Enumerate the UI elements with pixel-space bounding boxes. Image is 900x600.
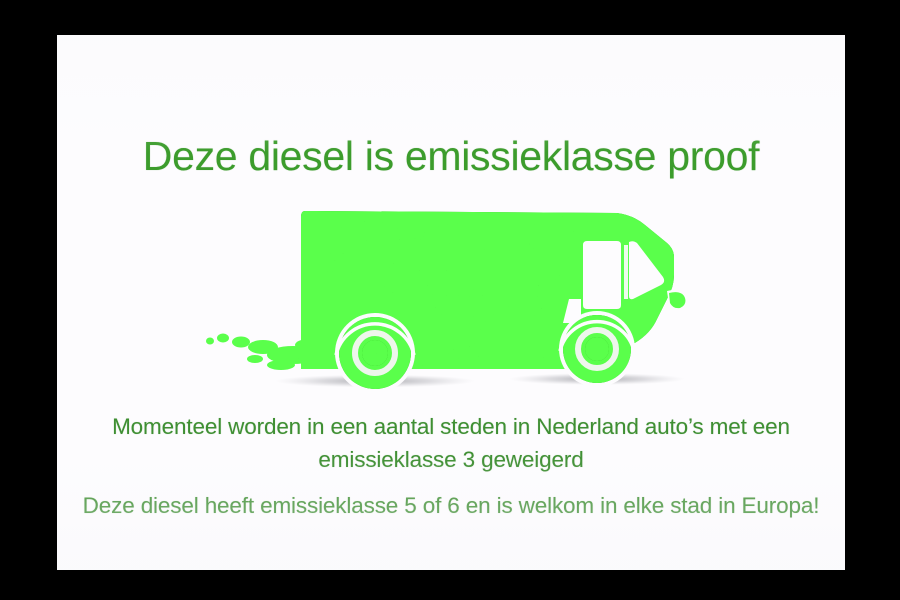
page-title: Deze diesel is emissieklasse proof: [57, 133, 845, 180]
side-mirror: [667, 290, 688, 312]
windscreen-pillar-gap: [624, 245, 628, 299]
content-panel: Deze diesel is emissieklasse proof: [57, 35, 845, 570]
screenshot-stage: Deze diesel is emissieklasse proof: [0, 0, 900, 600]
van-illustration: [197, 195, 757, 430]
caption-paragraph: Momenteel worden in een aantal steden in…: [57, 410, 845, 476]
caption-paragraph: Deze diesel heeft emissieklasse 5 of 6 e…: [57, 489, 845, 522]
van-graphic: [197, 195, 757, 430]
caption-block: Momenteel worden in een aantal steden in…: [57, 410, 845, 522]
rear-side-window: [583, 241, 621, 309]
